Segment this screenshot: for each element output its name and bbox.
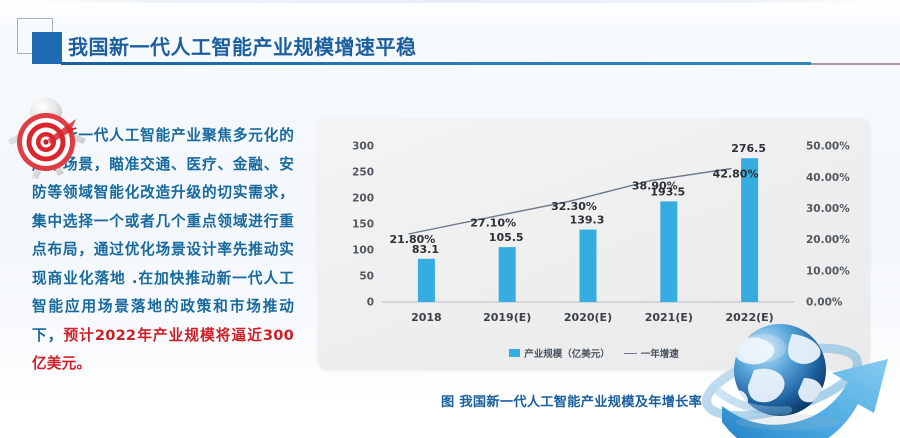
legend-swatch-line-icon <box>624 353 637 354</box>
right-axis-tick: 20.00% <box>806 234 850 246</box>
chart-legend: 产业规模（亿美元） 一年增速 <box>318 346 870 360</box>
chart-line-value-label: 21.80% <box>389 233 435 246</box>
chart-bar <box>499 247 516 302</box>
chart-bar-value-label: 105.5 <box>489 231 524 244</box>
left-axis-tick: 150 <box>352 219 374 231</box>
chart-right-axis: 0.00%10.00%20.00%30.00%40.00%50.00% <box>806 141 850 309</box>
legend-label-bar: 产业规模（亿美元） <box>524 346 610 360</box>
chart-category-label: 2020(E) <box>564 311 612 324</box>
left-axis-tick: 0 <box>367 297 374 309</box>
chart-category-label: 2022(E) <box>726 311 774 324</box>
slide-top-edge <box>0 0 900 3</box>
chart-bar <box>580 230 597 302</box>
chart-category-label: 2021(E) <box>645 311 693 324</box>
header-filled-square-icon <box>32 32 62 64</box>
left-axis-tick: 50 <box>359 271 374 283</box>
legend-item-line: 一年增速 <box>624 346 679 360</box>
chart-bar <box>660 201 677 302</box>
chart-category-label: 2019(E) <box>483 311 531 324</box>
left-axis-tick: 100 <box>352 245 374 257</box>
header-divider-tan <box>811 63 900 65</box>
right-axis-tick: 30.00% <box>806 203 850 215</box>
chart-category-label: 2018 <box>411 311 442 324</box>
chart-plot-area: 050100150200250300 0.00%10.00%20.00%30.0… <box>318 118 870 370</box>
body-paragraph-main: 我国新一代人工智能产业聚焦多元化的应用场景，瞄准交通、医疗、金融、安防等领域智能… <box>32 127 294 344</box>
chart-caption: 图 我国新一代人工智能产业规模及年增长率 <box>441 391 702 410</box>
chart-bar <box>418 259 435 302</box>
header-divider-blue <box>61 62 811 65</box>
page-title: 我国新一代人工智能产业规模增速平稳 <box>68 31 417 60</box>
right-axis-tick: 10.00% <box>806 265 850 277</box>
right-axis-tick: 40.00% <box>806 172 850 184</box>
legend-item-bar: 产业规模（亿美元） <box>509 346 610 360</box>
left-axis-tick: 200 <box>352 193 374 205</box>
right-axis-tick: 50.00% <box>806 141 850 153</box>
left-axis-tick: 250 <box>352 167 374 179</box>
chart-line-value-label: 42.80% <box>713 167 759 180</box>
chart-bar-value-label: 276.5 <box>731 142 766 155</box>
chart-line-labels: 21.80%27.10%32.30%38.90%42.80% <box>389 167 758 246</box>
chart-category-labels: 20182019(E)2020(E)2021(E)2022(E) <box>411 311 774 324</box>
chart-bars <box>418 158 758 302</box>
chart-line-value-label: 27.10% <box>470 216 516 229</box>
right-axis-tick: 0.00% <box>806 297 843 309</box>
slide-header: 我国新一代人工智能产业规模增速平稳 <box>0 14 900 72</box>
body-paragraph-highlight: 预计2022年产业规模将逼近300亿美元。 <box>32 327 294 373</box>
chart-left-axis: 050100150200250300 <box>352 141 374 309</box>
chart-card: 050100150200250300 0.00%10.00%20.00%30.0… <box>318 118 870 370</box>
slide-canvas: 我国新一代人工智能产业规模增速平稳 <box>0 0 900 438</box>
legend-swatch-bar-icon <box>509 349 520 357</box>
legend-label-line: 一年增速 <box>641 346 679 360</box>
chart-line-value-label: 38.90% <box>632 180 678 193</box>
chart-bar-value-label: 139.3 <box>570 214 605 227</box>
body-paragraph: 我国新一代人工智能产业聚焦多元化的应用场景，瞄准交通、医疗、金融、安防等领域智能… <box>32 122 294 379</box>
chart-line-value-label: 32.30% <box>551 200 597 213</box>
left-axis-tick: 300 <box>352 141 374 153</box>
